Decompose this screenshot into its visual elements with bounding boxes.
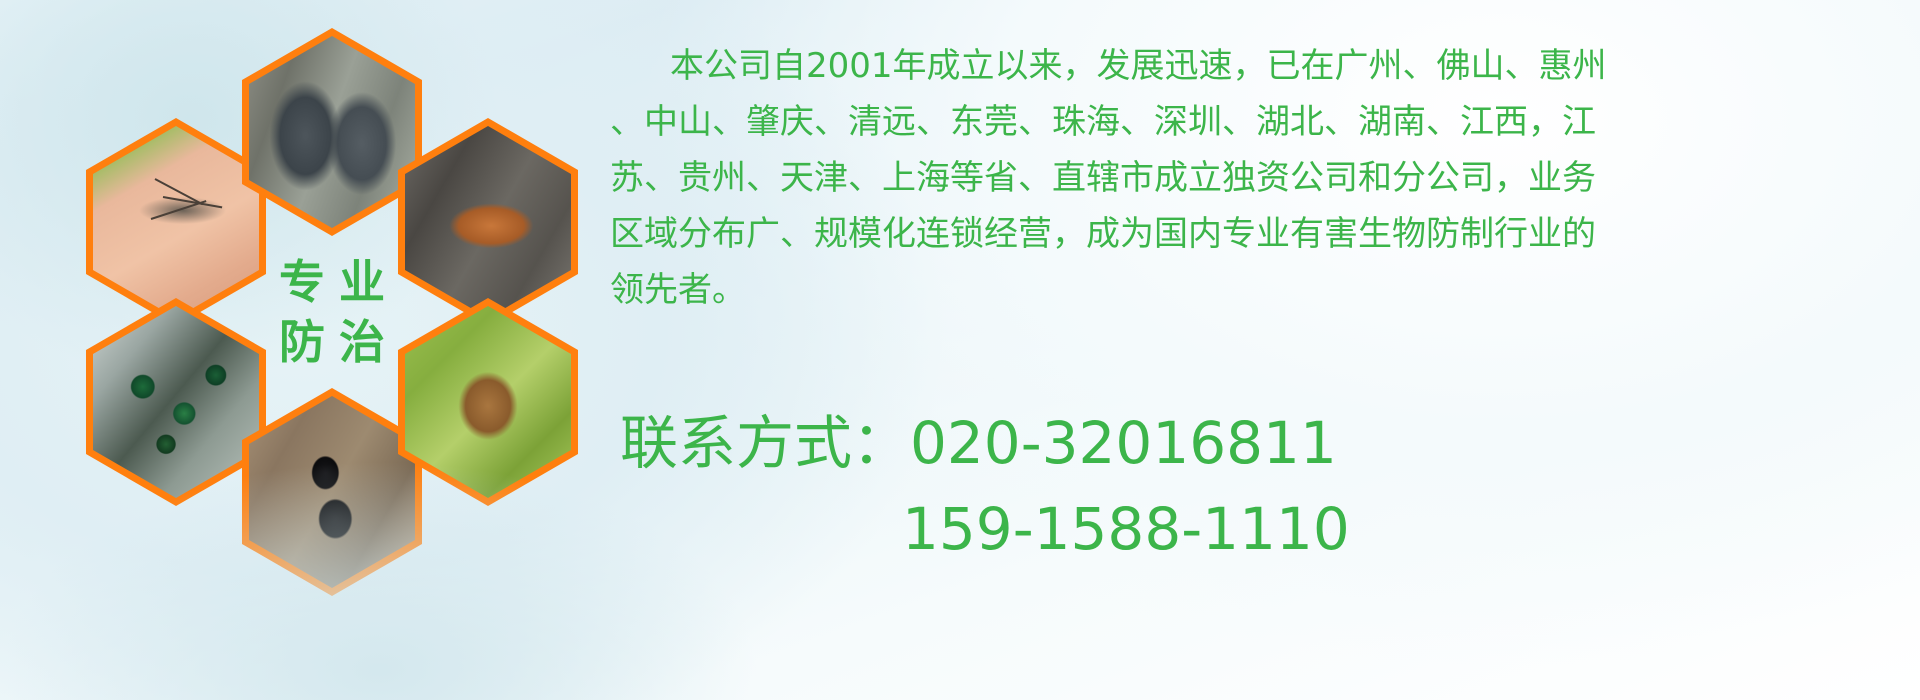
hex-photo-flies-inner xyxy=(93,306,259,498)
hex-photo-rats-inner xyxy=(249,36,415,228)
hex-photo-ants xyxy=(242,388,422,596)
contact-phone-landline[interactable]: 联系方式：020-32016811 xyxy=(620,400,1920,486)
company-description: 本公司自2001年成立以来，发展迅速，已在广州、佛山、惠州 、中山、肇庆、清远、… xyxy=(610,38,1920,318)
mosquito-leg-icon xyxy=(151,200,207,220)
hex-photo-cockroach-inner xyxy=(405,126,571,318)
hex-photo-rats xyxy=(242,28,422,236)
hexagon-photo-cluster: 专业 防治 xyxy=(86,8,586,568)
logo-slogan-line2: 防治 xyxy=(265,319,399,365)
ant-icon xyxy=(249,396,415,588)
hex-photo-ants-inner xyxy=(249,396,415,588)
description-line-3: 苏、贵州、天津、上海等省、直辖市成立独资公司和分公司，业务 xyxy=(610,150,1920,206)
hex-center-label-inner: 专业 防治 xyxy=(249,216,415,408)
rats-icon xyxy=(249,36,415,228)
cockroach-icon xyxy=(405,126,571,318)
description-line-4: 区域分布广、规模化连锁经营，成为国内专业有害生物防制行业的 xyxy=(610,206,1920,262)
stink-bug-icon xyxy=(405,306,571,498)
hex-center-label: 专业 防治 xyxy=(242,208,422,416)
hex-photo-mosquito-inner xyxy=(93,126,259,318)
logo-slogan-line1: 专业 xyxy=(265,259,399,305)
contact-phone-mobile[interactable]: 159-1588-1110 xyxy=(620,486,1920,572)
description-line-5: 领先者。 xyxy=(610,262,1920,318)
description-line-2: 、中山、肇庆、清远、东莞、珠海、深圳、湖北、湖南、江西，江 xyxy=(610,94,1920,150)
promo-banner: 专业 防治 本公司自2001年成立以来，发展迅速，已在广州、佛山、惠州 、中山、… xyxy=(0,0,1920,700)
mosquito-icon xyxy=(93,126,259,318)
hex-photo-cockroach xyxy=(398,118,578,326)
hex-photo-stink-bug-inner xyxy=(405,306,571,498)
hex-photo-stink-bug xyxy=(398,298,578,506)
logo-slogan: 专业 防治 xyxy=(249,216,415,408)
flies-icon xyxy=(93,306,259,498)
hex-photo-mosquito xyxy=(86,118,266,326)
contact-block: 联系方式：020-32016811 159-1588-1110 xyxy=(620,400,1920,572)
description-line-1: 本公司自2001年成立以来，发展迅速，已在广州、佛山、惠州 xyxy=(610,38,1920,94)
hex-photo-flies xyxy=(86,298,266,506)
